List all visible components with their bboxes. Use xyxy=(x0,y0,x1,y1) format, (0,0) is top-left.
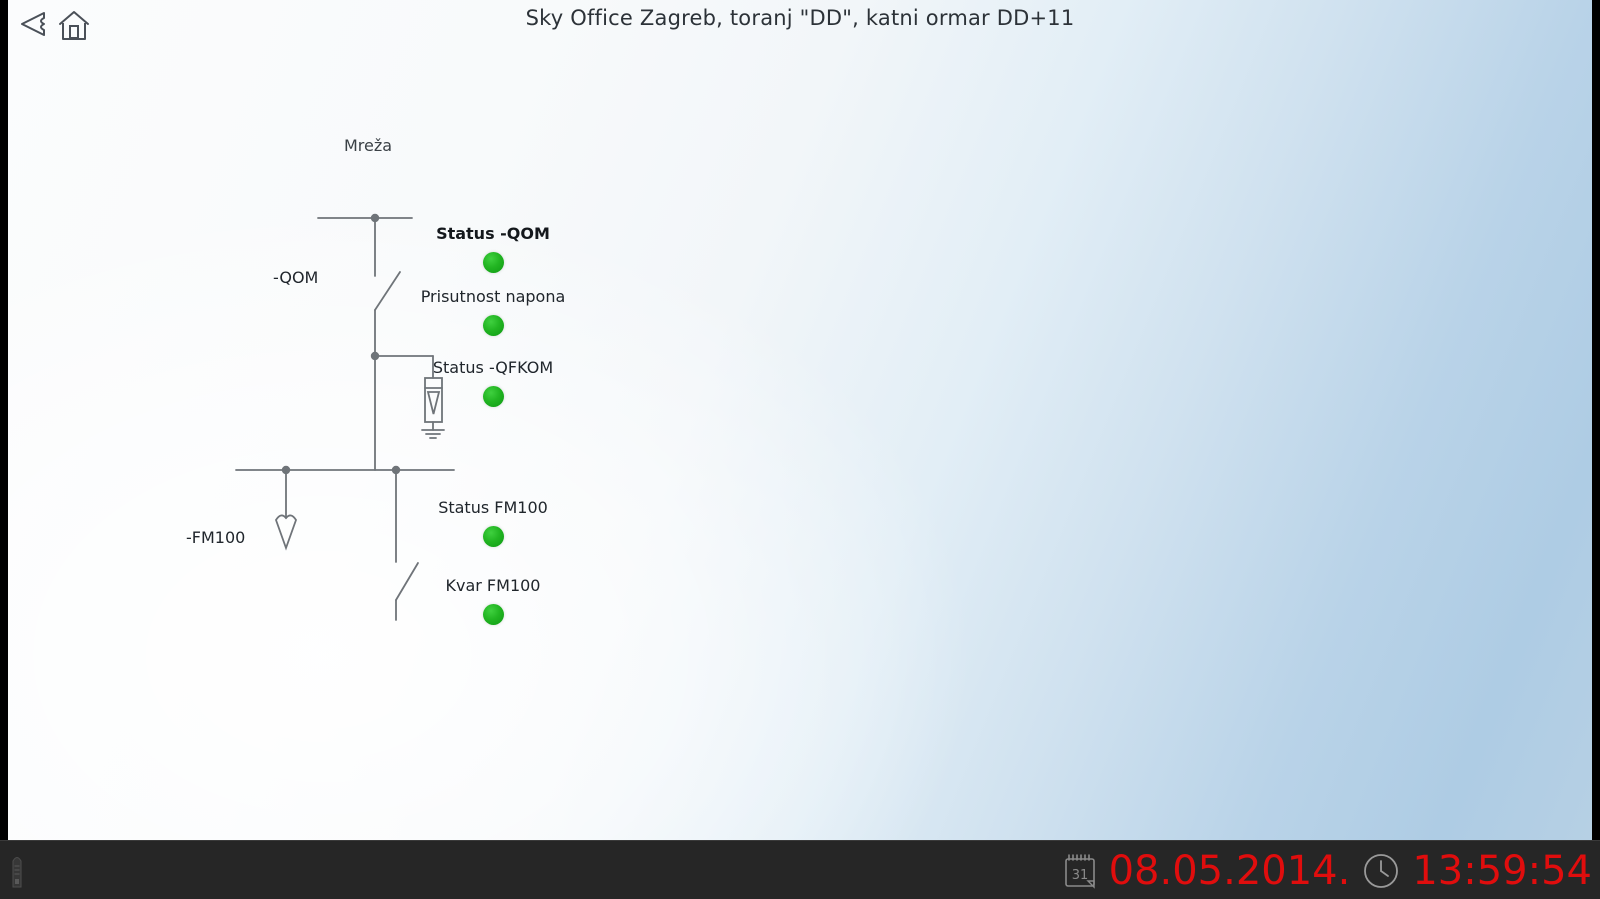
scada-screen: Sky Office Zagreb, toranj "DD", katni or… xyxy=(0,0,1600,899)
indicator-label: Status -QFKOM xyxy=(373,358,613,378)
indicator-label: Status -QOM xyxy=(373,224,613,244)
frame-left-edge xyxy=(0,0,8,840)
indicator-fault-fm100[interactable]: Kvar FM100 xyxy=(373,576,613,625)
indicator-status-qfkom[interactable]: Status -QFKOM xyxy=(373,358,613,407)
indicator-label: Kvar FM100 xyxy=(373,576,613,596)
column-mreza: Mreža xyxy=(48,0,528,840)
svg-text:31: 31 xyxy=(1071,868,1088,883)
fuse-label-fm100: -FM100 xyxy=(186,528,245,547)
indicator-label: Status FM100 xyxy=(373,498,613,518)
breaker-label-qom: -QOM xyxy=(273,268,318,287)
time-display: 13:59:54 xyxy=(1412,851,1592,891)
schematic-mreza xyxy=(48,0,528,840)
calendar-icon: 31 xyxy=(1061,851,1099,891)
device-status-icon[interactable] xyxy=(7,851,27,893)
led-status-fm100 xyxy=(483,526,504,547)
clock-icon xyxy=(1360,850,1402,892)
date-display: 08.05.2014. xyxy=(1109,851,1351,891)
indicator-status-fm100[interactable]: Status FM100 xyxy=(373,498,613,547)
indicator-status-qom[interactable]: Status -QOM xyxy=(373,224,613,273)
frame-right-edge xyxy=(1592,0,1600,840)
navigation-bar xyxy=(8,0,1592,48)
back-arrow-icon[interactable] xyxy=(14,8,50,40)
indicator-label: Prisutnost napona xyxy=(373,287,613,307)
led-voltage-present xyxy=(483,315,504,336)
status-bar: 31 08.05.2014. 13:59:54 xyxy=(0,840,1600,899)
mimic-diagram-canvas: Sky Office Zagreb, toranj "DD", katni or… xyxy=(8,0,1592,840)
led-status-qom xyxy=(483,252,504,273)
indicator-voltage-present[interactable]: Prisutnost napona xyxy=(373,287,613,336)
home-icon[interactable] xyxy=(56,8,92,42)
led-status-qfkom xyxy=(483,386,504,407)
datetime-group: 31 08.05.2014. 13:59:54 xyxy=(1061,841,1592,899)
led-fault-fm100 xyxy=(483,604,504,625)
